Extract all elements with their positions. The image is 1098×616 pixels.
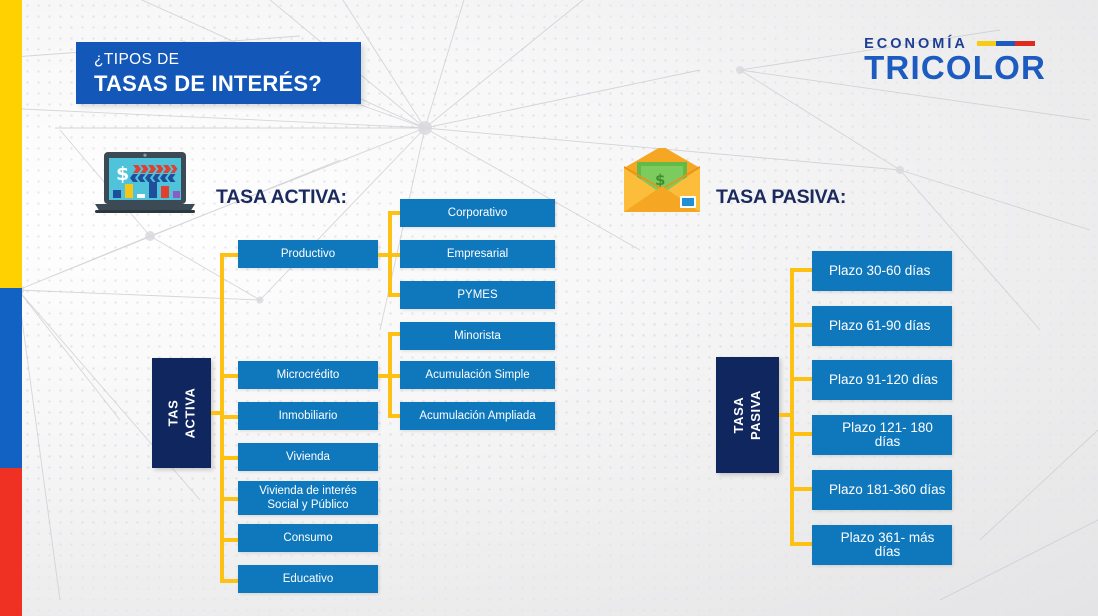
root-activa-line1: TAS	[165, 387, 182, 438]
node-plazo-61-90[interactable]: Plazo 61-90 días	[812, 306, 952, 346]
node-productivo[interactable]: Productivo	[238, 240, 378, 268]
node-microcredito-label: Microcrédito	[277, 368, 340, 382]
slide-title-big: TASAS DE INTERÉS?	[94, 70, 361, 98]
connector-activa-branch-2	[220, 374, 238, 378]
brand-flag-icon	[977, 41, 1035, 46]
node-pymes-label: PYMES	[457, 288, 497, 302]
connector-activa-branch-3	[220, 415, 238, 419]
node-inmobiliario-label: Inmobiliario	[279, 409, 338, 423]
connector-corporativo	[388, 211, 400, 215]
connector-plazo-5	[790, 487, 812, 491]
slide-title-small: ¿TIPOS DE	[94, 50, 361, 69]
connector-activa-branch-7	[220, 579, 238, 583]
node-plazo-181-360[interactable]: Plazo 181-360 días	[812, 470, 952, 510]
connector-activa-branch-6	[220, 538, 238, 542]
node-vivienda-interes-social[interactable]: Vivienda de interés Social y Público	[238, 481, 378, 515]
node-educativo[interactable]: Educativo	[238, 565, 378, 593]
connector-plazo-6	[790, 542, 812, 546]
tricolor-side-bar	[0, 0, 22, 616]
node-corporativo[interactable]: Corporativo	[400, 199, 555, 227]
node-acumulacion-ampliada-label: Acumulación Ampliada	[419, 409, 535, 423]
node-plazo-91-120[interactable]: Plazo 91-120 días	[812, 360, 952, 400]
root-label-tasa-activa: TAS ACTIVA	[152, 358, 211, 468]
slide-title-plate: ¿TIPOS DE TASAS DE INTERÉS?	[76, 42, 361, 104]
connector-empresarial	[388, 253, 400, 257]
node-vivienda-interes-social-label: Vivienda de interés Social y Público	[259, 484, 357, 512]
connector-plazo-3	[790, 377, 812, 381]
node-pymes[interactable]: PYMES	[400, 281, 555, 309]
node-acumulacion-simple[interactable]: Acumulación Simple	[400, 361, 555, 389]
node-productivo-label: Productivo	[281, 247, 335, 261]
laptop-chart-icon: $	[95, 150, 195, 219]
node-plazo-361-mas[interactable]: Plazo 361- más días	[812, 525, 952, 565]
connector-activa-branch-4	[220, 456, 238, 460]
node-consumo-label: Consumo	[283, 531, 332, 545]
node-plazo-121-180[interactable]: Plazo 121- 180 días	[812, 415, 952, 455]
brand-bottom-text: TRICOLOR	[864, 50, 1046, 85]
node-empresarial[interactable]: Empresarial	[400, 240, 555, 268]
node-empresarial-label: Empresarial	[447, 247, 508, 261]
slide-canvas: ¿TIPOS DE TASAS DE INTERÉS? ECONOMÍA TRI…	[0, 0, 1098, 616]
brand-flag-blue	[996, 41, 1015, 46]
node-plazo-91-120-label: Plazo 91-120 días	[829, 373, 938, 387]
node-plazo-121-180-label: Plazo 121- 180 días	[829, 421, 946, 449]
node-minorista-label: Minorista	[454, 329, 501, 343]
brand-flag-red	[1015, 41, 1034, 46]
node-microcredito[interactable]: Microcrédito	[238, 361, 378, 389]
brand-logo: ECONOMÍA TRICOLOR	[864, 36, 1046, 85]
connector-activa-branch-1	[220, 253, 238, 257]
node-plazo-61-90-label: Plazo 61-90 días	[829, 319, 930, 333]
connector-pymes	[388, 293, 400, 297]
root-activa-line2: ACTIVA	[182, 387, 199, 438]
connector-plazo-2	[790, 323, 812, 327]
svg-text:$: $	[116, 163, 129, 185]
connector-acumulacion-ampliada	[388, 414, 400, 418]
node-vivienda-label: Vivienda	[286, 450, 330, 464]
node-plazo-30-60[interactable]: Plazo 30-60 días	[812, 251, 952, 291]
heading-tasa-activa: TASA ACTIVA:	[216, 186, 347, 209]
node-vivienda[interactable]: Vivienda	[238, 443, 378, 471]
node-acumulacion-ampliada[interactable]: Acumulación Ampliada	[400, 402, 555, 430]
tricolor-segment-blue	[0, 288, 22, 468]
connector-pasiva-trunk	[790, 270, 794, 546]
connector-plazo-1	[790, 268, 812, 272]
node-corporativo-label: Corporativo	[448, 206, 507, 220]
connector-activa-trunk	[220, 255, 224, 583]
connector-activa-branch-5	[220, 497, 238, 501]
connector-plazo-4	[790, 432, 812, 436]
root-pasiva-line2: PASIVA	[747, 390, 764, 440]
root-label-tasa-pasiva: TASA PASIVA	[716, 357, 779, 473]
node-minorista[interactable]: Minorista	[400, 322, 555, 350]
node-plazo-181-360-label: Plazo 181-360 días	[829, 483, 945, 497]
node-consumo[interactable]: Consumo	[238, 524, 378, 552]
tricolor-segment-yellow	[0, 0, 22, 288]
envelope-money-icon: $	[620, 148, 704, 221]
node-plazo-30-60-label: Plazo 30-60 días	[829, 264, 930, 278]
connector-acumulacion-simple	[388, 374, 400, 378]
connector-minorista	[388, 332, 400, 336]
node-acumulacion-simple-label: Acumulación Simple	[425, 368, 529, 382]
tricolor-segment-red	[0, 468, 22, 616]
node-plazo-361-mas-label: Plazo 361- más días	[829, 531, 946, 559]
brand-flag-yellow	[977, 41, 996, 46]
root-pasiva-line1: TASA	[730, 390, 747, 440]
heading-tasa-pasiva: TASA PASIVA:	[716, 186, 846, 209]
node-inmobiliario[interactable]: Inmobiliario	[238, 402, 378, 430]
node-educativo-label: Educativo	[283, 572, 334, 586]
